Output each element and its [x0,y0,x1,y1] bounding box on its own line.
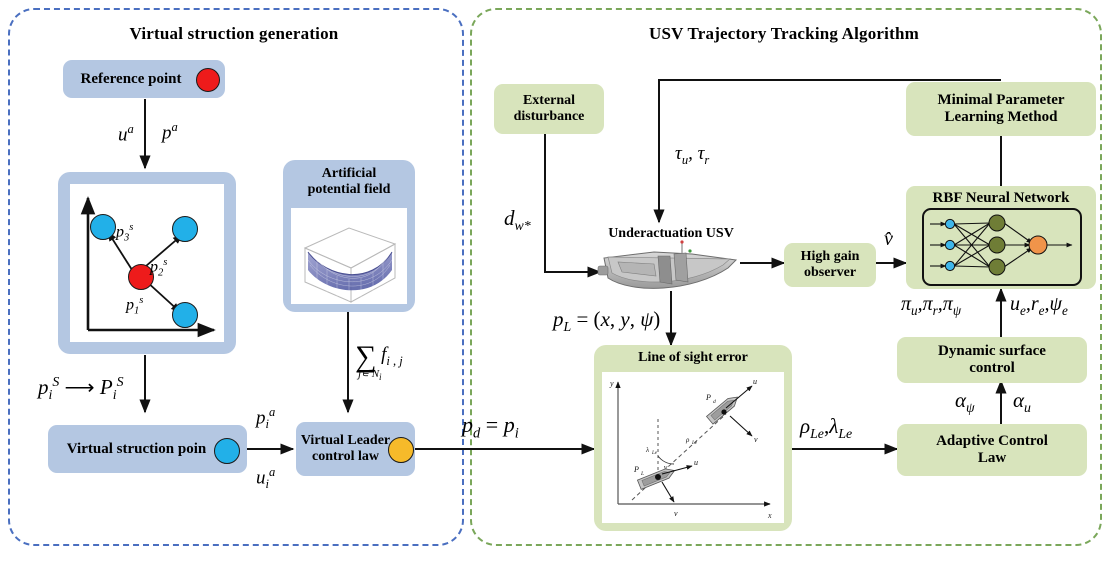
svg-text:L: L [640,471,644,477]
svg-text:Le: Le [651,451,658,456]
edge-label-pi-terms: πu,πr,πψ [901,293,961,319]
edge-label-tau: τu, τr [675,143,709,168]
svg-text:P: P [633,465,639,474]
orange-dot-virtual-leader [388,437,414,463]
edge-label-ps-to-Ps: piS ⟶ PiS [38,374,124,403]
label-p1s: p1s [126,295,143,317]
edge-label-error-terms: ue,re,ψe [1010,293,1068,319]
adaptive-control-line1: Adaptive Control [936,433,1048,449]
left-panel-title: Virtual struction generation [8,24,460,44]
minimal-parameter-line1: Minimal Parameter [937,92,1064,108]
svg-text:x: x [767,511,772,520]
svg-text:Le: Le [691,441,698,446]
edge-label-dw: dw* [504,206,531,234]
high-gain-observer-box[interactable]: High gain observer [784,243,876,287]
cyan-dot-node-3 [90,214,116,240]
dynamic-surface-line1: Dynamic surface [938,343,1046,359]
external-disturbance-line1: External [523,93,575,108]
cyan-dot-node-1 [172,302,198,328]
red-dot-reference [196,68,220,92]
edge-label-rho-lambda: ρLe,λLe [800,414,852,442]
svg-text:y: y [609,379,614,388]
edge-label-pa: pa [162,120,178,144]
svg-text:v: v [754,435,758,444]
rbf-label: RBF Neural Network [933,190,1070,207]
label-p3s: p3s [116,222,133,244]
svg-text:u: u [694,458,698,467]
minimal-parameter-learning-box[interactable]: Minimal Parameter Learning Method [906,82,1096,136]
virtual-leader-line1: Virtual Leader [301,433,390,448]
edge-label-uia: uia [256,465,275,492]
virtual-leader-line2: control law [312,449,379,464]
edge-label-alpha-u: αu [1013,388,1031,416]
virtual-structure-plot [70,184,224,342]
high-gain-observer-line1: High gain [801,249,860,264]
edge-label-sum-fij: ∑ fi , j j∊ Ni [355,340,403,374]
right-panel-title: USV Trajectory Tracking Algorithm [470,24,1098,44]
edge-label-sum-sub: j∊ Ni [358,367,382,382]
apf-title-line2: potential field [283,182,415,198]
virtual-struction-point-label: Virtual struction poin [67,441,206,458]
dynamic-surface-line2: control [969,360,1015,376]
svg-text:ρ: ρ [685,436,690,444]
svg-text:v: v [674,509,678,518]
boat-illustration [596,240,746,298]
edge-label-alpha-psi: αψ [955,388,975,416]
edge-label-pia: pia [256,405,275,432]
svg-text:λ: λ [645,446,649,454]
adaptive-control-law-box[interactable]: Adaptive Control Law [897,424,1087,476]
apf-title: Artificial potential field [283,166,415,198]
external-disturbance-box[interactable]: External disturbance [494,84,604,134]
dynamic-surface-control-box[interactable]: Dynamic surface control [897,337,1087,383]
apf-plot [291,208,407,304]
minimal-parameter-line2: Learning Method [945,109,1058,125]
svg-text:u: u [753,377,757,386]
cyan-dot-struction-point [214,438,240,464]
edge-label-pd-eq-pi: pd = pi [462,412,519,442]
svg-text:P: P [705,393,711,402]
los-geometry-plot: y x λ Le γ ρ Le P d u v P L u [602,372,784,523]
high-gain-observer-line2: observer [804,265,856,280]
label-p2s: p2s [150,257,167,279]
external-disturbance-line2: disturbance [514,109,585,124]
reference-point-label: Reference point [81,71,182,88]
adaptive-control-line2: Law [978,450,1006,466]
edge-label-pl: pL = (x, y, ψ) [553,307,660,335]
svg-text:d: d [713,399,716,405]
los-title: Line of sight error [594,350,792,366]
apf-title-line1: Artificial [283,166,415,182]
edge-label-vhat: v̂ [884,228,893,251]
edge-label-ua: ua [118,122,134,146]
cyan-dot-node-2 [172,216,198,242]
neural-network-diagram [922,208,1082,286]
